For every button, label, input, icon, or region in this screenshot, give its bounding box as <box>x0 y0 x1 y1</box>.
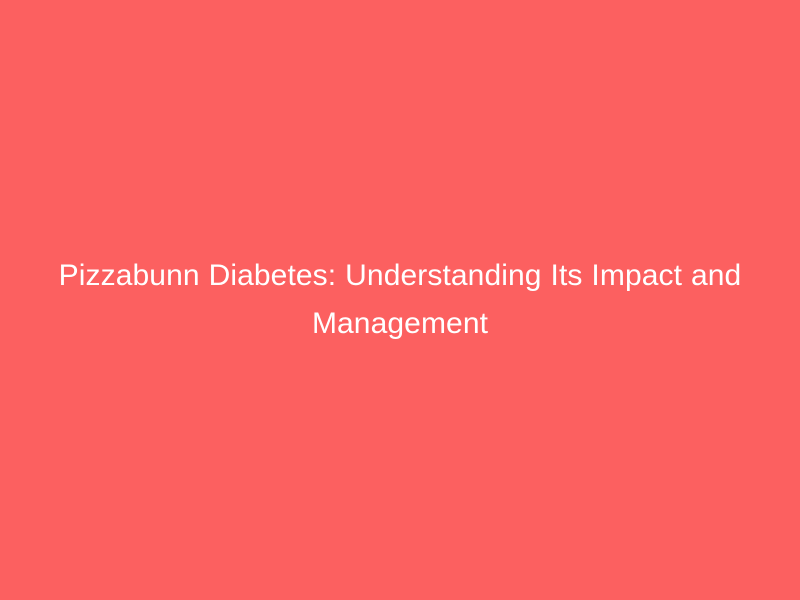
page-title: Pizzabunn Diabetes: Understanding Its Im… <box>50 252 750 348</box>
title-card: Pizzabunn Diabetes: Understanding Its Im… <box>0 0 800 600</box>
